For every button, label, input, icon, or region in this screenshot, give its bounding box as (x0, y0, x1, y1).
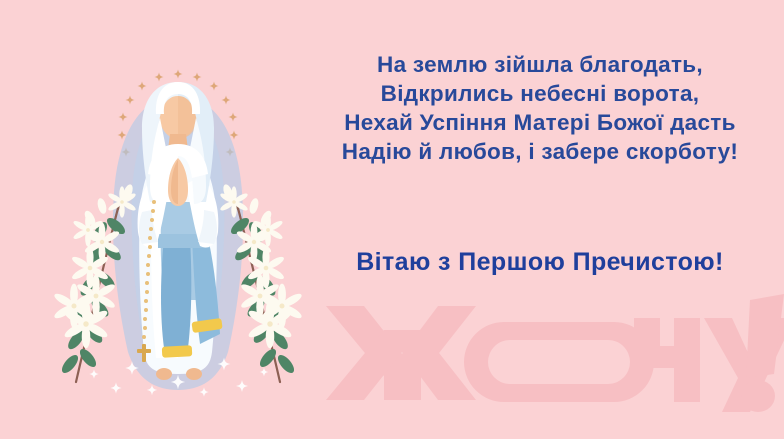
verse-line-4: Надію й любов, і забере скорботу! (296, 137, 784, 166)
verse-line-2: Відкрились небесні ворота, (296, 79, 784, 108)
greeting-text: Вітаю з Першою Пречистою! (296, 246, 784, 278)
greeting-card: На землю зійшла благодать, Відкрились не… (0, 0, 784, 439)
watermark-hochu (318, 292, 784, 412)
verse-text-block: На землю зійшла благодать, Відкрились не… (296, 50, 784, 166)
virgin-mary-illustration (42, 52, 314, 400)
verse-line-1: На землю зійшла благодать, (296, 50, 784, 79)
verse-line-3: Нехай Успіння Матері Божої дасть (296, 108, 784, 137)
